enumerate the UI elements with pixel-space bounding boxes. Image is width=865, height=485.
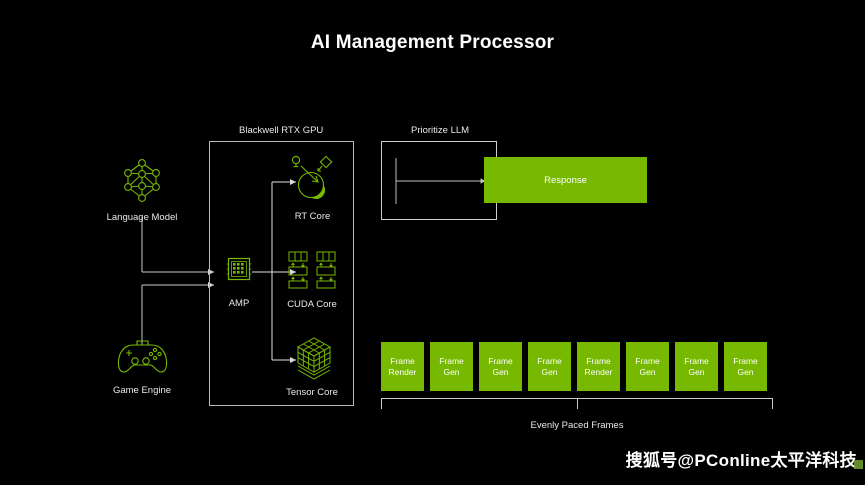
response-label: Response [544, 175, 587, 186]
amp-label: AMP [209, 298, 269, 310]
frame-cell: Frame Gen [675, 342, 718, 391]
tensor-core-label: Tensor Core [272, 387, 352, 399]
prioritize-llm-box [381, 141, 497, 220]
watermark: 搜狐号@PConline太平洋科技 [626, 446, 857, 471]
frame-cell: Frame Gen [626, 342, 669, 391]
rt-core-label: RT Core [275, 211, 350, 223]
prioritize-llm-label: Prioritize LLM [411, 125, 469, 136]
frame-line2: Render [389, 367, 417, 378]
cuda-core-label: CUDA Core [272, 299, 352, 311]
frame-line2: Gen [492, 367, 508, 378]
frame-cell: Frame Gen [528, 342, 571, 391]
evenly-paced-frames-label: Evenly Paced Frames [381, 420, 773, 431]
neural-network-icon [116, 155, 168, 207]
game-controller-icon [115, 337, 170, 379]
frame-line2: Render [585, 367, 613, 378]
frame-cell: Frame Render [381, 342, 424, 391]
watermark-mark-icon [854, 460, 863, 469]
frame-line1: Frame [488, 356, 513, 367]
frame-line2: Gen [541, 367, 557, 378]
rt-core-icon [288, 152, 338, 204]
frame-line1: Frame [537, 356, 562, 367]
frame-cell: Frame Gen [724, 342, 767, 391]
frame-line2: Gen [639, 367, 655, 378]
connector-wires [0, 0, 865, 485]
frame-line1: Frame [733, 356, 758, 367]
frame-line1: Frame [586, 356, 611, 367]
frame-sequence: Frame Render Frame Gen Frame Gen Frame G… [381, 342, 767, 391]
frame-line1: Frame [684, 356, 709, 367]
game-engine-label: Game Engine [82, 385, 202, 397]
frame-cell: Frame Gen [479, 342, 522, 391]
frame-line1: Frame [390, 356, 415, 367]
frame-line1: Frame [635, 356, 660, 367]
frame-line1: Frame [439, 356, 464, 367]
cuda-core-icon [287, 250, 339, 292]
response-bar: Response [484, 157, 647, 203]
frame-line2: Gen [443, 367, 459, 378]
tensor-core-icon [288, 333, 340, 383]
frame-line2: Gen [737, 367, 753, 378]
frame-cell: Frame Render [577, 342, 620, 391]
amp-chip-icon [226, 256, 252, 282]
slide-canvas: AI Management Processor [0, 0, 865, 485]
frame-cell: Frame Gen [430, 342, 473, 391]
language-model-label: Language Model [82, 212, 202, 224]
gpu-box-label: Blackwell RTX GPU [239, 125, 323, 136]
frame-line2: Gen [688, 367, 704, 378]
frames-bracket-tick [577, 398, 578, 409]
page-title: AI Management Processor [0, 32, 865, 54]
